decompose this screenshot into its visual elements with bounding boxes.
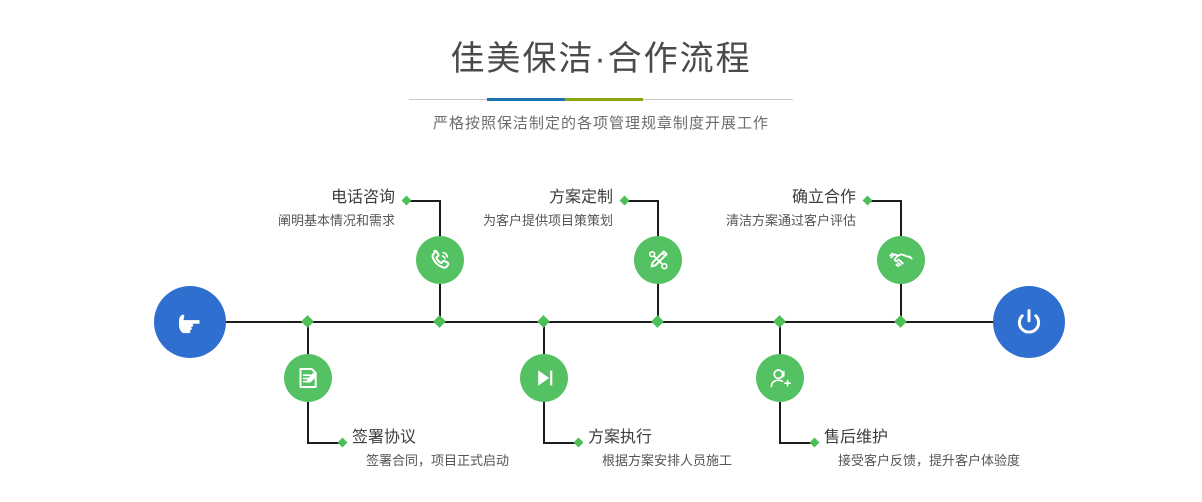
- process-timeline: 电话咨询 阐明基本情况和需求 签署协议 签署合同，项目正式启动: [0, 0, 1202, 502]
- step-title-4: 方案执行: [588, 428, 848, 448]
- step-desc-6: 接受客户反馈，提升客户体验度: [838, 452, 1124, 470]
- step-label-4: 方案执行 根据方案安排人员施工: [588, 428, 848, 470]
- step-title-5: 确立合作: [650, 188, 856, 208]
- power-icon: [1009, 302, 1049, 342]
- document-sign-icon: [294, 364, 322, 392]
- step-desc-5: 清洁方案通过客户评估: [650, 212, 856, 230]
- step-node-4[interactable]: [520, 354, 568, 402]
- timeline-axis: [160, 321, 1042, 323]
- pencil-design-icon: [644, 246, 672, 274]
- step-node-6[interactable]: [756, 354, 804, 402]
- step-node-5[interactable]: [877, 236, 925, 284]
- step-title-6: 售后维护: [824, 428, 1124, 448]
- flowchart-page: 佳美保洁·合作流程 严格按照保洁制定的各项管理规章制度开展工作: [0, 0, 1202, 502]
- timeline-start-node[interactable]: [154, 286, 226, 358]
- step-label-2: 签署协议 签署合同，项目正式启动: [352, 428, 612, 470]
- step-desc-2: 签署合同，项目正式启动: [366, 452, 612, 470]
- step-node-2[interactable]: [284, 354, 332, 402]
- axis-marker-step-5: [894, 315, 907, 328]
- step-label-5: 确立合作 清洁方案通过客户评估: [650, 188, 856, 230]
- step-desc-1: 阐明基本情况和需求: [190, 212, 395, 230]
- step-label-3: 方案定制 为客户提供项目策策划: [408, 188, 613, 230]
- step-label-1: 电话咨询 阐明基本情况和需求: [190, 188, 395, 230]
- axis-marker-step-1: [433, 315, 446, 328]
- step-title-1: 电话咨询: [190, 188, 395, 208]
- step-title-2: 签署协议: [352, 428, 612, 448]
- step-node-1[interactable]: [416, 236, 464, 284]
- axis-marker-step-6: [773, 315, 786, 328]
- label-marker-step-2: [338, 438, 348, 448]
- play-execute-icon: [530, 364, 558, 392]
- handshake-icon: [887, 246, 915, 274]
- phone-call-icon: [426, 246, 454, 274]
- step-desc-4: 根据方案安排人员施工: [602, 452, 848, 470]
- step-label-6: 售后维护 接受客户反馈，提升客户体验度: [824, 428, 1124, 470]
- label-marker-step-3: [620, 196, 630, 206]
- axis-marker-step-4: [537, 315, 550, 328]
- label-marker-step-5: [863, 196, 873, 206]
- hand-pointing-icon: [170, 302, 210, 342]
- timeline-end-node[interactable]: [993, 286, 1065, 358]
- step-title-3: 方案定制: [408, 188, 613, 208]
- step-node-3[interactable]: [634, 236, 682, 284]
- axis-marker-step-3: [651, 315, 664, 328]
- axis-marker-step-2: [301, 315, 314, 328]
- step-desc-3: 为客户提供项目策策划: [408, 212, 613, 230]
- customer-service-icon: [766, 364, 794, 392]
